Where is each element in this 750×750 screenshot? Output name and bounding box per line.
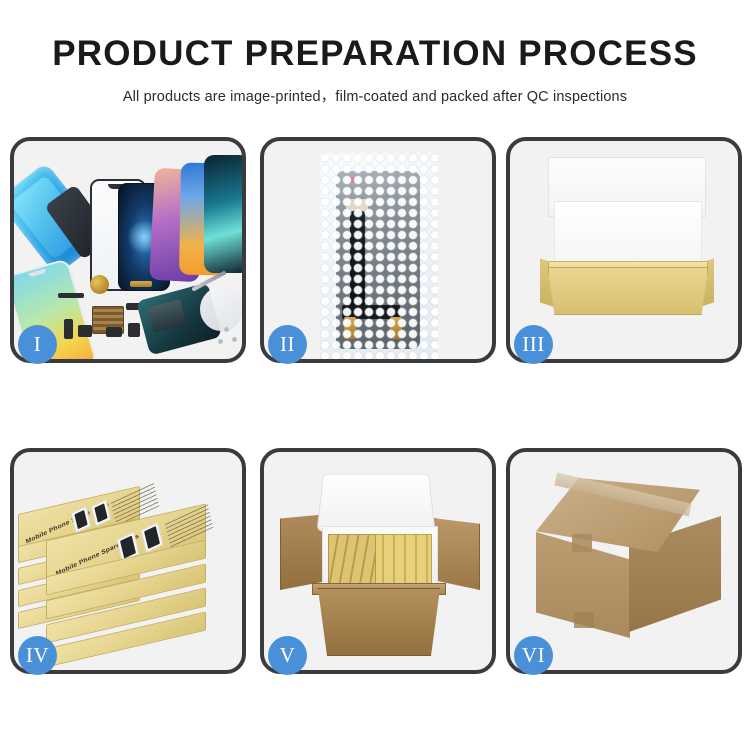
box-stack: Mobile Phone Spare Parts Mobile Phone Sp… (16, 466, 244, 662)
yellow-box-front-icon (548, 267, 708, 315)
parts-assortment-photo (14, 141, 242, 359)
step-badge-4: IV (18, 636, 57, 675)
screw-icon (218, 339, 223, 344)
teal-phone-icon (204, 155, 246, 273)
carton-seam-icon (574, 612, 594, 628)
process-steps-grid: Mobile Phone Spare Parts Mobile Phone Sp… (10, 137, 745, 685)
stacked-boxes-photo: Mobile Phone Spare Parts Mobile Phone Sp… (14, 452, 242, 670)
page-title: PRODUCT PREPARATION PROCESS (0, 0, 750, 71)
bubble-wrap-bag-icon (320, 153, 438, 361)
connector-part-icon (64, 319, 73, 339)
yellow-boxes-row-icon (328, 534, 376, 584)
step-badge-1: I (18, 325, 57, 364)
screw-icon (232, 337, 237, 342)
carton-seam-icon (572, 534, 592, 552)
carton-flap-right-icon (432, 518, 480, 590)
step-badge-6: VI (514, 636, 553, 675)
battery-part-icon (106, 327, 122, 337)
hand-icon (200, 287, 242, 331)
step-badge-2: II (268, 325, 307, 364)
flex-cable-icon (58, 293, 84, 298)
carton-loading-photo (264, 452, 492, 670)
gold-flex-cable-icon (130, 281, 152, 287)
gold-coil-part-icon (90, 275, 109, 294)
step-badge-5: V (268, 636, 307, 675)
bubble-texture-icon (320, 153, 438, 361)
single-box-photo (510, 141, 738, 359)
bubble-wrapped-lcd-photo (264, 141, 492, 359)
header: PRODUCT PREPARATION PROCESS All products… (0, 0, 750, 106)
camera-part-icon (128, 323, 140, 337)
step-badge-3: III (514, 325, 553, 364)
screw-icon (224, 327, 229, 332)
carton-front-icon (314, 588, 444, 656)
foam-lid-icon (317, 474, 436, 532)
product-preparation-process-page: PRODUCT PREPARATION PROCESS All products… (0, 0, 750, 750)
speaker-part-icon (78, 325, 92, 337)
sealed-carton-photo (510, 452, 738, 670)
page-subtitle: All products are image-printed，film-coat… (0, 71, 750, 106)
